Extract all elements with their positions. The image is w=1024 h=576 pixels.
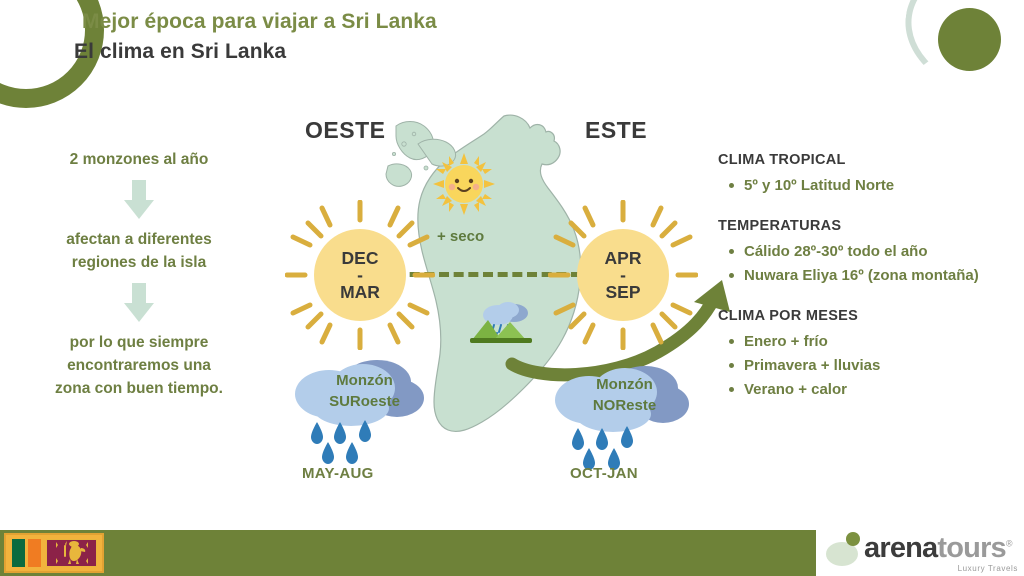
monsoon-northeast-label: Monzón NOReste — [567, 374, 682, 416]
logo-name-secondary: tours — [937, 532, 1006, 564]
monsoon-northeast-line-2: NOReste — [567, 395, 682, 416]
sun-badge-east-disc: APR - SEP — [577, 229, 669, 321]
info-item: 5º y 10º Latitud Norte — [718, 174, 1024, 198]
info-heading: CLIMA TROPICAL — [718, 152, 1024, 168]
smiling-sun-icon — [432, 152, 496, 216]
flow-step-1: 2 monzones al año — [8, 148, 270, 171]
sun-badge-west-line-3: MAR — [340, 284, 380, 301]
flow-step-3-line-2: encontraremos una — [8, 354, 270, 377]
info-item: Primavera + lluvias — [718, 354, 1024, 378]
flow-step-3-line-3: zona con buen tiempo. — [8, 377, 270, 400]
flow-step-3-line-1: por lo que siempre — [8, 331, 270, 354]
flow-step-2: afectan a diferentes regiones de la isla — [8, 228, 270, 274]
page-title: Mejor época para viajar a Sri Lanka — [82, 10, 437, 34]
label-west: OESTE — [305, 117, 385, 144]
info-item: Cálido 28º-30º todo el año — [718, 240, 1024, 264]
sun-badge-west-line-1: DEC — [342, 250, 379, 267]
monsoon-southwest-label: Monzón SURoeste — [307, 370, 422, 412]
flag-orange-stripe — [28, 539, 41, 567]
info-block-temperaturas: TEMPERATURAS Cálido 28º-30º todo el año … — [718, 218, 1024, 288]
info-heading: CLIMA POR MESES — [718, 308, 1024, 324]
logo-dot-icon — [846, 532, 860, 546]
arrow-down-icon — [124, 180, 154, 220]
sri-lanka-flag-icon — [4, 533, 104, 573]
sun-badge-east-line-2: - — [620, 267, 626, 284]
sun-badge-west-line-2: - — [357, 267, 363, 284]
sun-badge-east[interactable]: APR - SEP — [548, 200, 698, 350]
dry-zone-label: + seco — [437, 228, 484, 245]
monsoon-northeast-months: OCT-JAN — [570, 465, 638, 482]
flag-lion-icon — [50, 539, 94, 567]
info-item: Nuwara Eliya 16º (zona montaña) — [718, 264, 1024, 288]
flag-maroon-field — [46, 539, 97, 567]
info-item: Enero + frío — [718, 330, 1024, 354]
arrow-down-icon — [124, 283, 154, 323]
monsoon-southwest-line-1: Monzón — [307, 370, 422, 391]
sun-badge-east-line-1: APR — [605, 250, 642, 267]
monsoon-southwest-line-2: SURoeste — [307, 391, 422, 412]
sun-badge-west-disc: DEC - MAR — [314, 229, 406, 321]
info-heading: TEMPERATURAS — [718, 218, 1024, 234]
right-info-column: CLIMA TROPICAL 5º y 10º Latitud Norte TE… — [718, 152, 1024, 422]
infographic-canvas: Mejor época para viajar a Sri Lanka El c… — [0, 0, 1024, 576]
logo-tagline: Luxury Travels — [958, 564, 1018, 573]
logo-name-primary: arena — [864, 532, 937, 564]
info-block-clima-por-meses: CLIMA POR MESES Enero + frío Primavera +… — [718, 308, 1024, 402]
flow-step-2-line-1: afectan a diferentes — [8, 228, 270, 251]
sun-badge-west[interactable]: DEC - MAR — [285, 200, 435, 350]
decorative-circle-top-right — [938, 8, 1001, 71]
flow-step-2-line-2: regiones de la isla — [8, 251, 270, 274]
flag-green-stripe — [12, 539, 25, 567]
left-flow-column: 2 monzones al año afectan a diferentes r… — [8, 148, 270, 400]
info-block-clima-tropical: CLIMA TROPICAL 5º y 10º Latitud Norte — [718, 152, 1024, 198]
monsoon-southwest-months: MAY-AUG — [302, 465, 374, 482]
logo-wordmark: arenatours® — [864, 532, 1012, 565]
arenatours-logo: arenatours® Luxury Travels — [822, 528, 1022, 576]
footer-bar — [0, 530, 816, 576]
page-subtitle: El clima en Sri Lanka — [74, 40, 286, 64]
logo-registered-mark: ® — [1006, 538, 1012, 548]
info-item: Verano + calor — [718, 378, 1024, 402]
monsoon-northeast-line-1: Monzón — [567, 374, 682, 395]
flow-step-3: por lo que siempre encontraremos una zon… — [8, 331, 270, 400]
sun-badge-east-line-3: SEP — [605, 284, 640, 301]
